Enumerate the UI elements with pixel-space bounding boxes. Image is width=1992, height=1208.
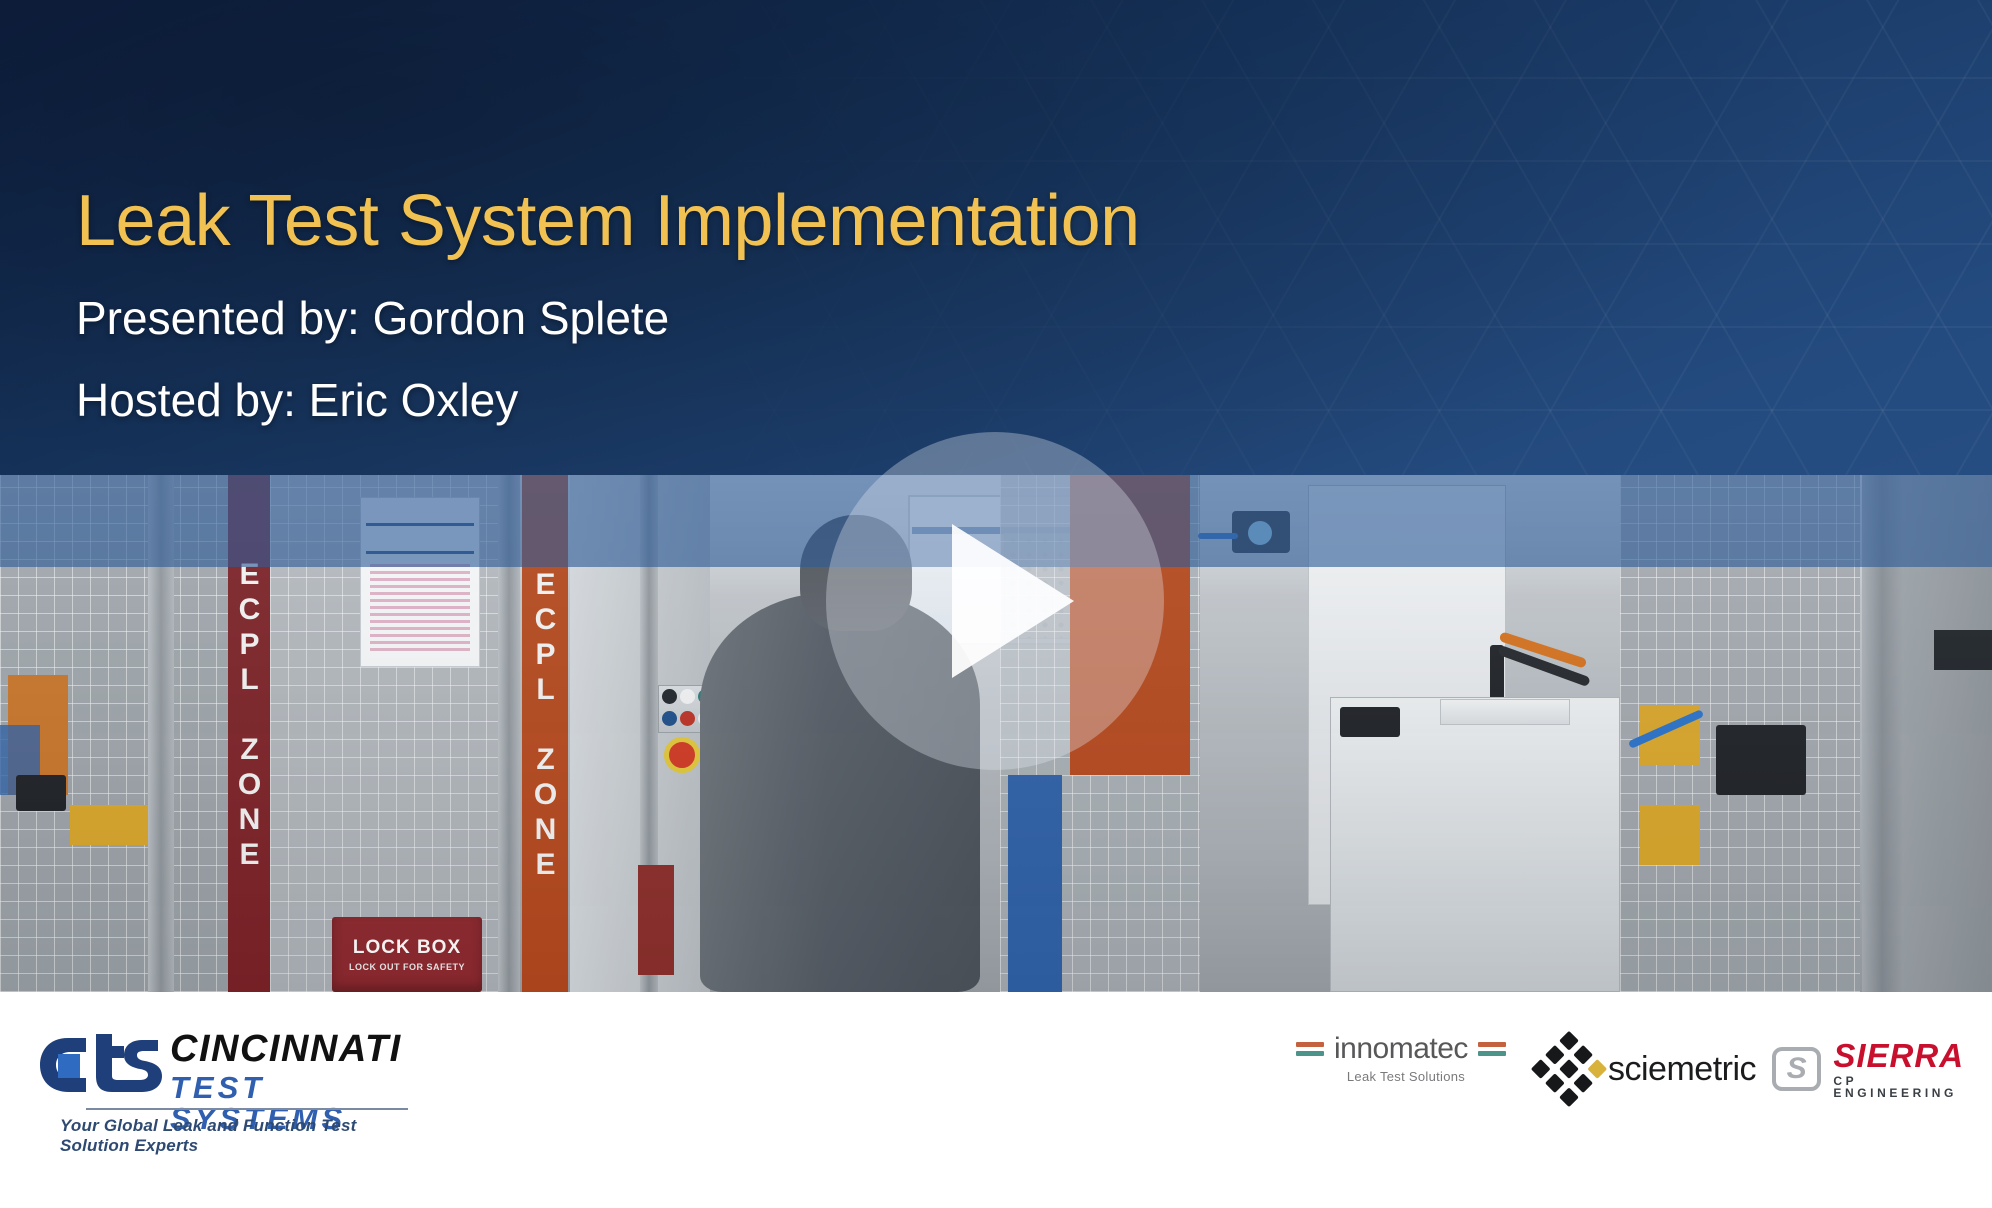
cts-line-1: CINCINNATI <box>170 1030 418 1068</box>
sierra-wordmark: SIERRA CP ENGINEERING <box>1833 1039 1972 1099</box>
presenter-line: Presented by: Gordon Splete <box>76 295 1576 341</box>
sierra-name: SIERRA <box>1833 1039 1972 1072</box>
cts-monogram-icon <box>38 1032 166 1098</box>
sierra-s-icon: S <box>1772 1047 1821 1091</box>
cts-divider <box>86 1108 408 1110</box>
play-triangle-icon <box>952 524 1074 678</box>
video-player-thumbnail[interactable]: Leak Test System Implementation Presente… <box>0 0 1992 1208</box>
brand-logo-group: innomatec Leak Test Solutions <box>1296 1020 1956 1120</box>
innomatec-row: innomatec <box>1296 1034 1516 1064</box>
host-line: Hosted by: Eric Oxley <box>76 377 1576 423</box>
innomatec-bars-left-icon <box>1296 1042 1324 1056</box>
cts-logo[interactable]: CINCINNATI TEST SYSTEMS Your Global Leak… <box>38 1024 418 1154</box>
title-block: Leak Test System Implementation Presente… <box>76 185 1576 423</box>
innomatec-bars-right-icon <box>1478 1042 1506 1056</box>
sierra-logo[interactable]: S SIERRA CP ENGINEERING <box>1772 1036 1972 1102</box>
sciemetric-diamond-icon <box>1531 1031 1607 1107</box>
sierra-tagline: CP ENGINEERING <box>1833 1075 1972 1099</box>
innomatec-logo[interactable]: innomatec Leak Test Solutions <box>1296 1034 1516 1104</box>
slide-title: Leak Test System Implementation <box>76 185 1576 257</box>
footer-bar: CINCINNATI TEST SYSTEMS Your Global Leak… <box>0 992 1992 1208</box>
play-button[interactable] <box>826 432 1164 770</box>
sciemetric-logo[interactable]: sciemetric <box>1542 1038 1762 1100</box>
innomatec-tagline: Leak Test Solutions <box>1296 1069 1516 1084</box>
sciemetric-name: sciemetric <box>1608 1050 1756 1089</box>
cts-tagline: Your Global Leak and Function Test Solut… <box>60 1116 418 1156</box>
innomatec-name: innomatec <box>1334 1034 1468 1064</box>
